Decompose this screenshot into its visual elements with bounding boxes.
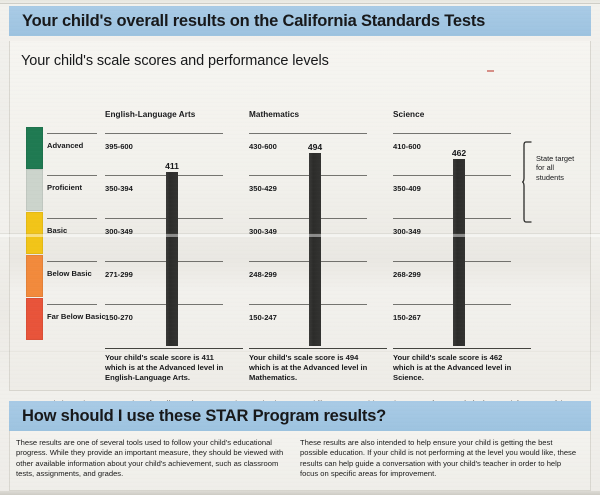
scale-score-chart: English-Language ArtsMathematicsScienceA… (9, 41, 591, 391)
column-header-ela: English-Language Arts (105, 110, 195, 119)
level-swatch-advanced (26, 127, 43, 169)
caption-rule-ela (105, 348, 243, 349)
range-rule-math (249, 304, 367, 305)
scan-fold-line-2 (0, 351, 600, 352)
page-bottom-edge (0, 491, 600, 495)
range-rule-ela (105, 261, 223, 262)
caption-rule-science (393, 348, 531, 349)
score-bar-science (453, 159, 465, 346)
level-swatch-proficient (26, 169, 43, 211)
scan-speck (487, 70, 494, 72)
score-bar-ela (166, 172, 178, 346)
range-rule-math (249, 261, 367, 262)
score-range-science-proficient: 350-409 (393, 184, 421, 193)
score-range-ela-far-below-basic: 150-270 (105, 313, 133, 322)
score-range-science-far-below-basic: 150-267 (393, 313, 421, 322)
score-range-math-proficient: 350-429 (249, 184, 277, 193)
range-rule-science (393, 175, 511, 176)
range-rule-math (249, 175, 367, 176)
scan-fold-highlight (0, 234, 600, 237)
level-rule (47, 261, 97, 262)
score-value-ela: 411 (152, 161, 192, 171)
score-range-science-below-basic: 268-299 (393, 270, 421, 279)
level-rule (47, 133, 97, 134)
section-header-overall-results: Your child's overall results on the Cali… (9, 6, 591, 36)
level-swatch-below-basic (26, 255, 43, 297)
range-rule-science (393, 304, 511, 305)
caption-ela: Your child's scale score is 411 which is… (105, 353, 230, 382)
range-rule-ela (105, 304, 223, 305)
score-range-math-far-below-basic: 150-247 (249, 313, 277, 322)
level-rule (47, 175, 97, 176)
level-label-proficient: Proficient (47, 183, 107, 193)
level-label-below-basic: Below Basic (47, 269, 107, 279)
level-swatch-far-below-basic (26, 298, 43, 340)
section1-title: Your child's overall results on the Cali… (9, 12, 485, 31)
column-header-math: Mathematics (249, 110, 299, 119)
range-rule-math (249, 218, 367, 219)
range-rule-science (393, 261, 511, 262)
level-rule (47, 304, 97, 305)
score-range-ela-advanced: 395-600 (105, 142, 133, 151)
caption-science: Your child's scale score is 462 which is… (393, 353, 518, 382)
score-range-science-advanced: 410-600 (393, 142, 421, 151)
score-bar-math (309, 153, 321, 346)
score-range-ela-below-basic: 271-299 (105, 270, 133, 279)
explanation-paragraph-left: These results are one of several tools u… (16, 438, 284, 480)
score-range-math-advanced: 430-600 (249, 142, 277, 151)
level-label-far-below-basic: Far Below Basic (47, 312, 107, 322)
range-rule-ela (105, 218, 223, 219)
explanation-paragraph-right: These results are also intended to help … (300, 438, 580, 480)
level-label-advanced: Advanced (47, 141, 107, 151)
score-range-math-below-basic: 248-299 (249, 270, 277, 279)
score-value-math: 494 (295, 142, 335, 152)
range-rule-science (393, 133, 511, 134)
column-header-science: Science (393, 110, 424, 119)
range-rule-ela (105, 133, 223, 134)
range-rule-science (393, 218, 511, 219)
section-header-how-to-use: How should I use these STAR Program resu… (9, 401, 591, 431)
section2-title: How should I use these STAR Program resu… (9, 407, 386, 426)
range-rule-ela (105, 175, 223, 176)
document-page: Your child's overall results on the Cali… (0, 0, 600, 495)
state-target-bracket-icon (522, 141, 533, 223)
page-top-edge (0, 0, 600, 5)
caption-math: Your child's scale score is 494 which is… (249, 353, 374, 382)
score-value-science: 462 (439, 148, 479, 158)
range-rule-math (249, 133, 367, 134)
caption-rule-math (249, 348, 387, 349)
score-range-ela-proficient: 350-394 (105, 184, 133, 193)
level-rule (47, 218, 97, 219)
state-target-label: State target for all students (536, 154, 576, 182)
